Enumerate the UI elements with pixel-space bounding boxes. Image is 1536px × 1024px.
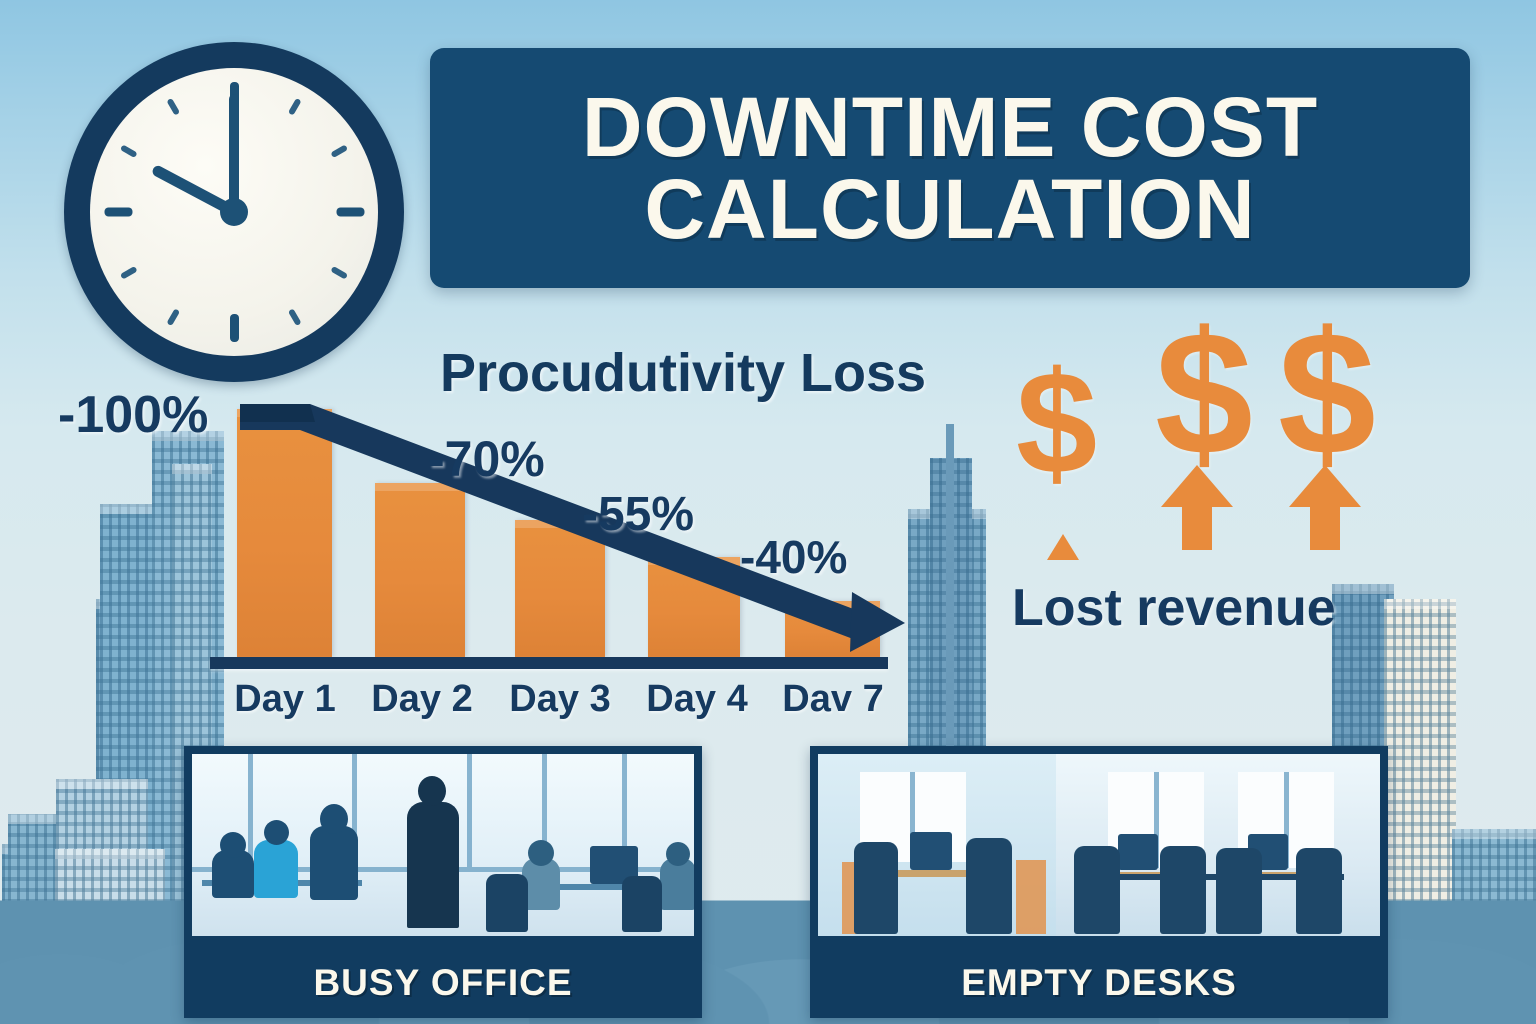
clock-tick-9 xyxy=(104,208,132,217)
monitor-1 xyxy=(910,832,952,870)
data-label-day-4: -40% xyxy=(740,530,847,584)
dollar-sign-1: $ xyxy=(1016,350,1097,496)
person-manager-suit xyxy=(407,802,459,928)
title-banner: DOWNTIME COST CALCULATION xyxy=(430,48,1470,288)
person-woman xyxy=(310,826,358,900)
clock-tick-7 xyxy=(166,308,180,326)
chart-title: Procudutivity Loss xyxy=(440,342,926,404)
lost-revenue-label: Lost revenue xyxy=(1012,578,1336,638)
clock-tick-8 xyxy=(120,266,138,280)
x-label-day-1: Day 1 xyxy=(232,678,338,721)
title-line-2: CALCULATION xyxy=(582,168,1318,250)
clock-face xyxy=(90,68,378,356)
data-label-day-1: -100% xyxy=(58,385,208,445)
up-arrow-icon-2 xyxy=(1160,465,1234,550)
x-label-day-2: Day 2 xyxy=(369,678,475,721)
title-line-1: DOWNTIME COST xyxy=(582,80,1318,174)
x-label-day-3: Day 3 xyxy=(507,678,613,721)
busy-office-photo xyxy=(192,754,694,936)
x-label-day-7: Dav 7 xyxy=(780,678,886,721)
bar-day-4 xyxy=(648,557,740,657)
clock-tick-11 xyxy=(166,98,180,116)
clock-tick-1 xyxy=(288,98,302,116)
clock-tick-3 xyxy=(336,208,364,217)
panel-empty-desks: EMPTY DESKS xyxy=(810,746,1388,1018)
dollar-sign-2: $ xyxy=(1155,306,1253,482)
clock-minute-hand xyxy=(229,94,239,212)
panel-empty-desks-caption: EMPTY DESKS xyxy=(810,948,1388,1018)
clock-tick-4 xyxy=(330,266,348,280)
empty-chair-4 xyxy=(1160,846,1206,934)
up-arrow-icon-3 xyxy=(1288,465,1362,550)
infographic-canvas: DOWNTIME COST CALCULATION Procudutivity … xyxy=(0,0,1536,1024)
person-standing-teal xyxy=(254,840,298,898)
data-label-day-3: -55% xyxy=(582,487,694,542)
clock-tick-2 xyxy=(330,144,348,158)
up-arrow-icon-1 xyxy=(1045,530,1081,564)
empty-chair-6 xyxy=(1296,848,1342,934)
clock-tick-5 xyxy=(288,308,302,326)
empty-chair-3 xyxy=(1074,846,1120,934)
empty-chair-2 xyxy=(966,838,1012,934)
clock-centre-pin xyxy=(220,198,248,226)
empty-chair-5 xyxy=(1216,848,1262,934)
clock-tick-10 xyxy=(120,144,138,158)
panel-busy-office-caption: BUSY OFFICE xyxy=(184,948,702,1018)
monitor-2 xyxy=(1118,834,1158,870)
empty-desks-photo xyxy=(818,754,1380,936)
x-label-day-4: Day 4 xyxy=(644,678,750,721)
bar-day-7 xyxy=(785,601,880,657)
empty-chair-1 xyxy=(854,842,898,934)
productivity-loss-chart: Procudutivity Loss -100% -70% -55% -40% … xyxy=(0,330,960,750)
bar-day-1 xyxy=(237,409,332,657)
panel-busy-office: BUSY OFFICE xyxy=(184,746,702,1018)
chart-axis-line xyxy=(210,657,888,669)
data-label-day-2: -70% xyxy=(428,430,545,488)
page-title: DOWNTIME COST CALCULATION xyxy=(582,86,1318,251)
dollar-sign-3: $ xyxy=(1278,306,1376,482)
bar-day-2 xyxy=(375,483,465,657)
